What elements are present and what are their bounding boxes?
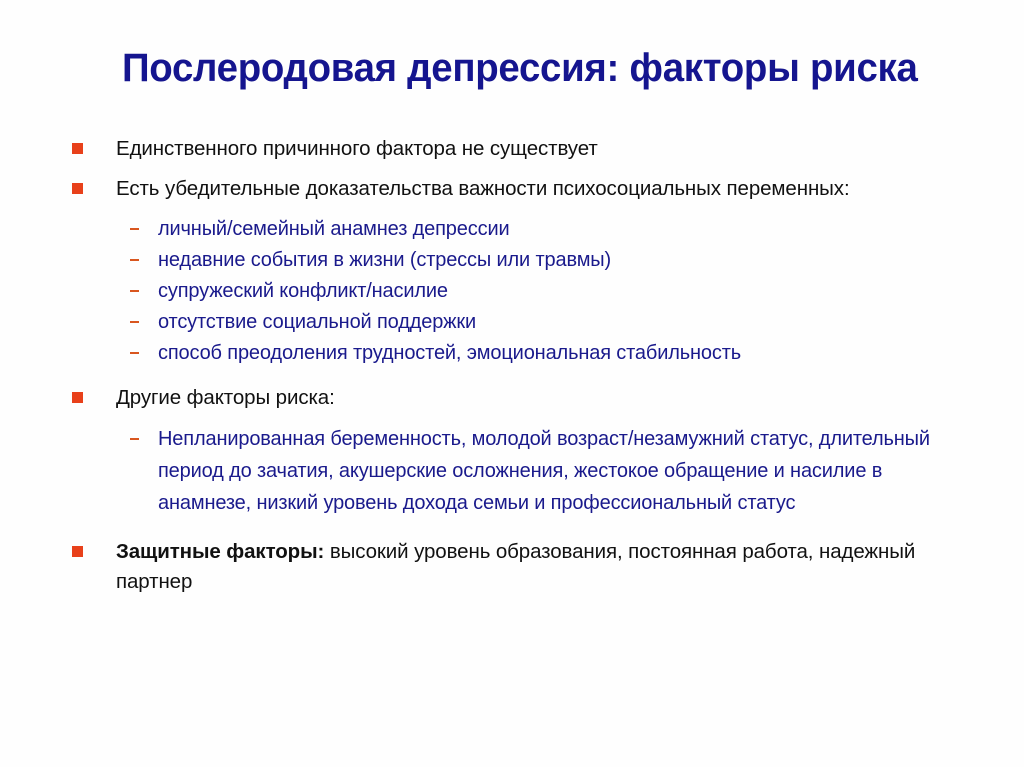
bullet-item-1: Единственного причинного фактора не суще… xyxy=(0,134,1024,164)
spacer xyxy=(0,375,1024,383)
dash-bullet-icon xyxy=(130,290,139,292)
bullet-item-2-label: Есть убедительные доказательства важност… xyxy=(116,174,964,204)
dash-bullet-icon xyxy=(130,438,139,440)
sub-item: Непланированная беременность, молодой во… xyxy=(0,423,1024,519)
bullet-item-3: Другие факторы риска: xyxy=(0,383,1024,413)
bullet-item-1-label: Единственного причинного фактора не суще… xyxy=(116,134,964,164)
square-bullet-icon xyxy=(72,546,83,557)
square-bullet-icon xyxy=(72,143,83,154)
sub-item-label: супружеский конфликт/насилие xyxy=(158,276,954,307)
sub-item: супружеский конфликт/насилие xyxy=(0,276,1024,307)
sub-item-label: Непланированная беременность, молодой во… xyxy=(158,423,944,519)
sub-list-bullet-3: Непланированная беременность, молодой во… xyxy=(0,423,1024,519)
sub-item: способ преодоления трудностей, эмоционал… xyxy=(0,338,1024,369)
sub-item: недавние события в жизни (стрессы или тр… xyxy=(0,245,1024,276)
square-bullet-icon xyxy=(72,183,83,194)
spacer xyxy=(0,525,1024,537)
sub-list-bullet-2: личный/семейный анамнез депрессии недавн… xyxy=(0,214,1024,369)
bullet-item-2: Есть убедительные доказательства важност… xyxy=(0,174,1024,204)
bullet-item-3-label: Другие факторы риска: xyxy=(116,383,964,413)
page-title: Послеродовая депрессия: факторы риска xyxy=(122,43,948,93)
dash-bullet-icon xyxy=(130,321,139,323)
bullet-item-4: Защитные факторы: высокий уровень образо… xyxy=(0,537,1024,597)
sub-item: отсутствие социальной поддержки xyxy=(0,307,1024,338)
sub-item-label: отсутствие социальной поддержки xyxy=(158,307,954,338)
dash-bullet-icon xyxy=(130,352,139,354)
slide: Послеродовая депрессия: факторы риска Ед… xyxy=(0,0,1024,767)
content-list: Единственного причинного фактора не суще… xyxy=(0,134,1024,607)
dash-bullet-icon xyxy=(130,259,139,261)
square-bullet-icon xyxy=(72,392,83,403)
sub-item-label: недавние события в жизни (стрессы или тр… xyxy=(158,245,954,276)
bullet-item-4-label: Защитные факторы: высокий уровень образо… xyxy=(116,537,964,597)
bullet-item-4-lead: Защитные факторы: xyxy=(116,540,324,563)
sub-item: личный/семейный анамнез депрессии xyxy=(0,214,1024,245)
sub-item-label: личный/семейный анамнез депрессии xyxy=(158,214,954,245)
dash-bullet-icon xyxy=(130,228,139,230)
sub-item-label: способ преодоления трудностей, эмоционал… xyxy=(158,338,954,369)
